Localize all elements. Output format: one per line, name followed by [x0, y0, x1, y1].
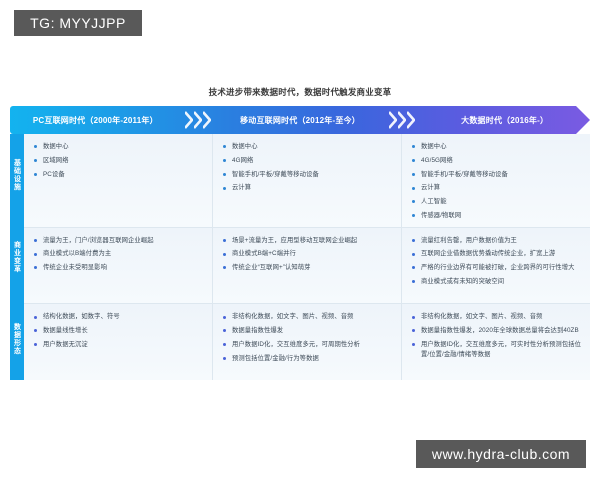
row-label-infrastructure-text: 基础设施 [14, 159, 21, 191]
list-item: 云计算 [412, 183, 582, 193]
grid-row-data-form: 结构化数据，如数字、符号 数据量线性增长 用户数据无沉淀 非结构化数据，如文字、… [24, 304, 590, 380]
list-item: 非结构化数据，如文字、图片、视频、音频 [412, 312, 582, 322]
phase-header-band: PC互联网时代（2000年-2011年） 移动互联网时代（2012年-至今） 大… [10, 106, 590, 134]
list-item: 数据量指数性爆发，2020年全球数据总量将会达到40ZB [412, 326, 582, 336]
chevron-separator-1 [181, 106, 215, 134]
list-item: 传统企业“互联网+”认知萌芽 [223, 263, 393, 273]
list-item: 云计算 [223, 183, 393, 193]
chevron-right-icon [389, 111, 397, 129]
bullet-list: 非结构化数据，如文字、图片、视频、音频 数据量指数性爆发，2020年全球数据总量… [412, 312, 582, 359]
cell-infrastructure-bigdata-era: 数据中心 4G/5G网络 智能手机/平板/穿戴等移动设备 云计算 人工智能 传感… [402, 134, 590, 227]
list-item: 数据中心 [223, 142, 393, 152]
row-label-data-form: 数据形态 [10, 298, 24, 380]
phase-header-1: PC互联网时代（2000年-2011年） [10, 106, 181, 134]
bullet-list: 非结构化数据，如文字、图片、视频、音频 数据量指数性爆发 用户数据ID化，交互维… [223, 312, 393, 363]
list-item: 预测包括位置/金融/行为等数据 [223, 354, 393, 364]
chevron-right-icon [194, 111, 202, 129]
cell-business-pc-era: 流量为王，门户/浏览器互联网企业崛起 商业模式以B端付费为主 传统企业未受明显影… [24, 228, 213, 304]
list-item: 数据量指数性爆发 [223, 326, 393, 336]
list-item: 智能手机/平板/穿戴等移动设备 [412, 170, 582, 180]
chevron-separator-2 [385, 106, 419, 134]
bottom-watermark-badge: www.hydra-club.com [416, 440, 586, 468]
list-item: 非结构化数据，如文字、图片、视频、音频 [223, 312, 393, 322]
list-item: 流量为王，门户/浏览器互联网企业崛起 [34, 236, 204, 246]
cell-dataform-mobile-era: 非结构化数据，如文字、图片、视频、音频 数据量指数性爆发 用户数据ID化，交互维… [213, 304, 402, 380]
chevron-right-icon [203, 111, 211, 129]
list-item: 严格的行业边界有可能被打破，企业跨界的可行性增大 [412, 263, 582, 273]
bullet-list: 流量红利告罄，用户数据价值为王 互联网企业借数据优势撬动传统企业，扩宽上游 严格… [412, 236, 582, 287]
row-label-infrastructure: 基础设施 [10, 134, 24, 216]
list-item: 数据中心 [412, 142, 582, 152]
diagram-title: 技术进步带来数据时代，数据时代触发商业变革 [0, 86, 600, 98]
row-label-business-change-text: 商业变革 [14, 241, 21, 273]
list-item: 场景+流量为王，应用型移动互联网企业崛起 [223, 236, 393, 246]
list-item: 4G/5G网络 [412, 156, 582, 166]
comparison-grid: 基础设施 商业变革 数据形态 数据中心 区域网络 PC设备 [10, 134, 590, 380]
cell-dataform-bigdata-era: 非结构化数据，如文字、图片、视频、音频 数据量指数性爆发，2020年全球数据总量… [402, 304, 590, 380]
chevron-right-icon [398, 111, 406, 129]
list-item: 4G网络 [223, 156, 393, 166]
list-item: 传统企业未受明显影响 [34, 263, 204, 273]
phase-header-3: 大数据时代（2016年-） [419, 106, 590, 134]
bullet-list: 数据中心 区域网络 PC设备 [34, 142, 204, 179]
list-item: 用户数据ID化，交互维度多元，可实时性分析预测包括位置/位置/金融/情绪等数据 [412, 340, 582, 360]
bullet-list: 结构化数据，如数字、符号 数据量线性增长 用户数据无沉淀 [34, 312, 204, 349]
list-item: 数据量线性增长 [34, 326, 204, 336]
grid-cells: 数据中心 区域网络 PC设备 数据中心 4G网络 智能手机/平板/穿戴等移动设备… [24, 134, 590, 380]
chevron-right-icon [407, 111, 415, 129]
bullet-list: 场景+流量为王，应用型移动互联网企业崛起 商业模式B端+C端并行 传统企业“互联… [223, 236, 393, 273]
list-item: 结构化数据，如数字、符号 [34, 312, 204, 322]
list-item: 商业模式B端+C端并行 [223, 249, 393, 259]
cell-business-mobile-era: 场景+流量为王，应用型移动互联网企业崛起 商业模式B端+C端并行 传统企业“互联… [213, 228, 402, 304]
phase-header-1-label: PC互联网时代（2000年-2011年） [33, 115, 158, 126]
phase-header-2-label: 移动互联网时代（2012年-至今） [240, 115, 360, 126]
timeline-comparison-diagram: 技术进步带来数据时代，数据时代触发商业变革 PC互联网时代（2000年-2011… [0, 86, 600, 396]
cell-infrastructure-mobile-era: 数据中心 4G网络 智能手机/平板/穿戴等移动设备 云计算 [213, 134, 402, 227]
phase-header-2: 移动互联网时代（2012年-至今） [215, 106, 386, 134]
cell-business-bigdata-era: 流量红利告罄，用户数据价值为王 互联网企业借数据优势撬动传统企业，扩宽上游 严格… [402, 228, 590, 304]
list-item: 流量红利告罄，用户数据价值为王 [412, 236, 582, 246]
cell-infrastructure-pc-era: 数据中心 区域网络 PC设备 [24, 134, 213, 227]
top-watermark-badge: TG: MYYJJPP [14, 10, 142, 36]
list-item: 用户数据无沉淀 [34, 340, 204, 350]
list-item: 商业模式以B端付费为主 [34, 249, 204, 259]
list-item: 人工智能 [412, 197, 582, 207]
list-item: 互联网企业借数据优势撬动传统企业，扩宽上游 [412, 249, 582, 259]
list-item: 商业模式或有未知的突破空间 [412, 277, 582, 287]
row-label-rail: 基础设施 商业变革 数据形态 [10, 134, 24, 380]
list-item: 用户数据ID化，交互维度多元，可周期性分析 [223, 340, 393, 350]
row-label-data-form-text: 数据形态 [14, 323, 21, 355]
list-item: 区域网络 [34, 156, 204, 166]
list-item: 数据中心 [34, 142, 204, 152]
bullet-list: 数据中心 4G/5G网络 智能手机/平板/穿戴等移动设备 云计算 人工智能 传感… [412, 142, 582, 221]
chevron-right-icon [185, 111, 193, 129]
grid-row-infrastructure: 数据中心 区域网络 PC设备 数据中心 4G网络 智能手机/平板/穿戴等移动设备… [24, 134, 590, 228]
list-item: PC设备 [34, 170, 204, 180]
list-item: 传感器/物联网 [412, 211, 582, 221]
list-item: 智能手机/平板/穿戴等移动设备 [223, 170, 393, 180]
grid-row-business-change: 流量为王，门户/浏览器互联网企业崛起 商业模式以B端付费为主 传统企业未受明显影… [24, 228, 590, 305]
bullet-list: 数据中心 4G网络 智能手机/平板/穿戴等移动设备 云计算 [223, 142, 393, 193]
cell-dataform-pc-era: 结构化数据，如数字、符号 数据量线性增长 用户数据无沉淀 [24, 304, 213, 380]
phase-header-3-label: 大数据时代（2016年-） [461, 115, 548, 126]
row-label-business-change: 商业变革 [10, 216, 24, 298]
bullet-list: 流量为王，门户/浏览器互联网企业崛起 商业模式以B端付费为主 传统企业未受明显影… [34, 236, 204, 273]
